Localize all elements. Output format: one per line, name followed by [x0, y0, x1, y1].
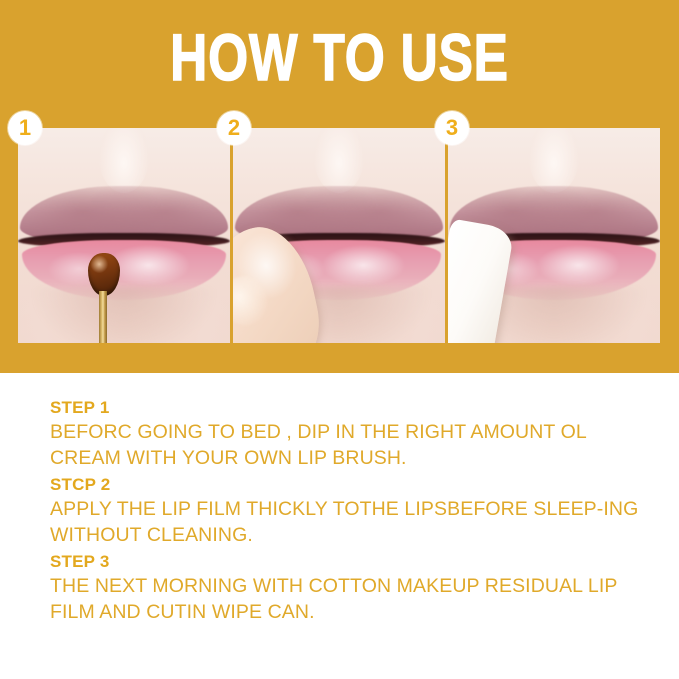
step-3-heading: STEP 3 [50, 550, 650, 573]
philtrum-highlight-icon [529, 128, 580, 193]
step-1-body: BEFORC GOING TO BED , DIP IN THE RIGHT A… [50, 419, 650, 471]
step-image-panel-1 [18, 128, 230, 343]
page-title: HOW TO USE [75, 22, 605, 92]
step-1-heading: STEP 1 [50, 396, 650, 419]
philtrum-highlight-icon [99, 128, 150, 193]
instruction-step-1: STEP 1 BEFORC GOING TO BED , DIP IN THE … [50, 396, 650, 471]
instruction-step-2: STCP 2 APPLY THE LIP FILM THICKLY TOTHE … [50, 473, 650, 548]
lips-photo-1 [18, 128, 230, 343]
step-2-heading: STCP 2 [50, 473, 650, 496]
step-image-panel-2 [233, 128, 445, 343]
instructions-list: STEP 1 BEFORC GOING TO BED , DIP IN THE … [50, 396, 650, 627]
lips-photo-3 [448, 128, 660, 343]
fingernail-icon [233, 272, 271, 329]
step-badge-3: 3 [435, 111, 469, 145]
step-badge-2: 2 [217, 111, 251, 145]
instruction-step-3: STEP 3 THE NEXT MORNING WITH COTTON MAKE… [50, 550, 650, 625]
chin-shadow [35, 287, 213, 343]
step-image-panel-3 [448, 128, 660, 343]
lips-photo-2 [233, 128, 445, 343]
image-panel-strip [18, 128, 660, 343]
how-to-use-infographic: HOW TO USE [0, 0, 679, 679]
philtrum-highlight-icon [314, 128, 365, 193]
step-3-body: THE NEXT MORNING WITH COTTON MAKEUP RESI… [50, 573, 650, 625]
step-badge-1: 1 [8, 111, 42, 145]
lip-brush-handle-icon [99, 291, 107, 343]
step-2-body: APPLY THE LIP FILM THICKLY TOTHE LIPSBEF… [50, 496, 650, 548]
